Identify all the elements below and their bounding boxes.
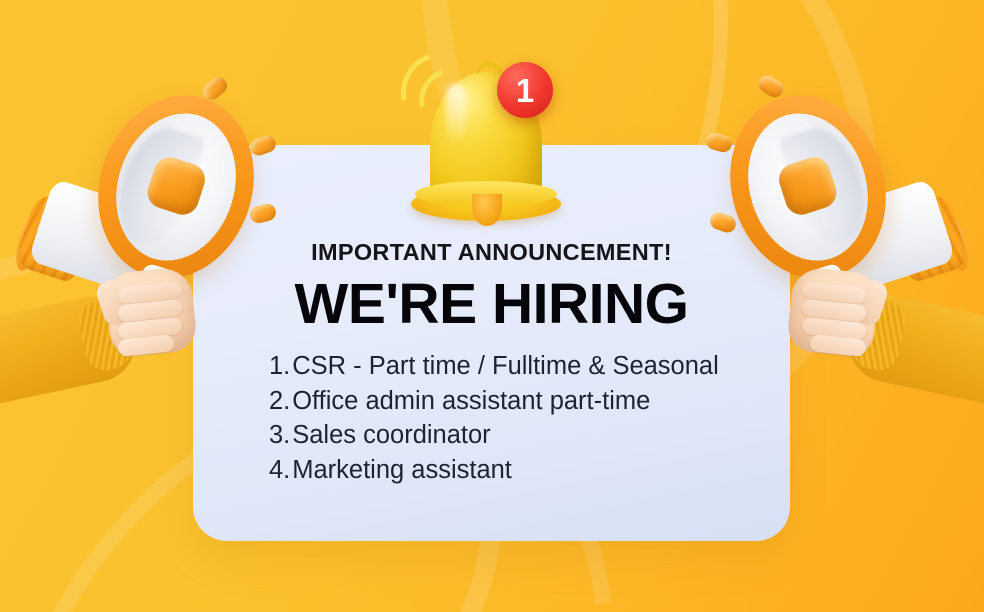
job-openings-list: 1. CSR - Part time / Fulltime & Seasonal… xyxy=(264,354,719,492)
list-item-label: CSR - Part time / Fulltime & Seasonal xyxy=(292,354,719,380)
list-item-number: 2. xyxy=(264,389,290,415)
bell-clapper xyxy=(472,194,502,226)
notification-count: 1 xyxy=(516,74,534,107)
notification-badge: 1 xyxy=(497,62,553,118)
megaphone-icon xyxy=(0,88,256,428)
page-title: WE'RE HIRING xyxy=(215,275,768,335)
page-subtitle: IMPORTANT ANNOUNCEMENT! xyxy=(215,241,768,265)
list-item-number: 1. xyxy=(264,354,290,380)
list-item: 1. CSR - Part time / Fulltime & Seasonal xyxy=(264,354,719,380)
list-item-number: 4. xyxy=(264,458,290,484)
list-item: 3. Sales coordinator xyxy=(264,423,719,449)
bell-highlight xyxy=(446,84,466,142)
list-item-number: 3. xyxy=(264,423,290,449)
list-item-label: Marketing assistant xyxy=(292,458,512,484)
megaphone-icon xyxy=(728,88,984,428)
bell-icon: 1 xyxy=(398,42,588,227)
list-item: 2. Office admin assistant part-time xyxy=(264,389,719,415)
list-item: 4. Marketing assistant xyxy=(264,458,719,484)
card-content: IMPORTANT ANNOUNCEMENT! WE'RE HIRING 1. … xyxy=(193,241,790,492)
hiring-announcement-poster: IMPORTANT ANNOUNCEMENT! WE'RE HIRING 1. … xyxy=(0,0,984,612)
list-item-label: Office admin assistant part-time xyxy=(292,389,650,415)
list-item-label: Sales coordinator xyxy=(292,423,490,449)
